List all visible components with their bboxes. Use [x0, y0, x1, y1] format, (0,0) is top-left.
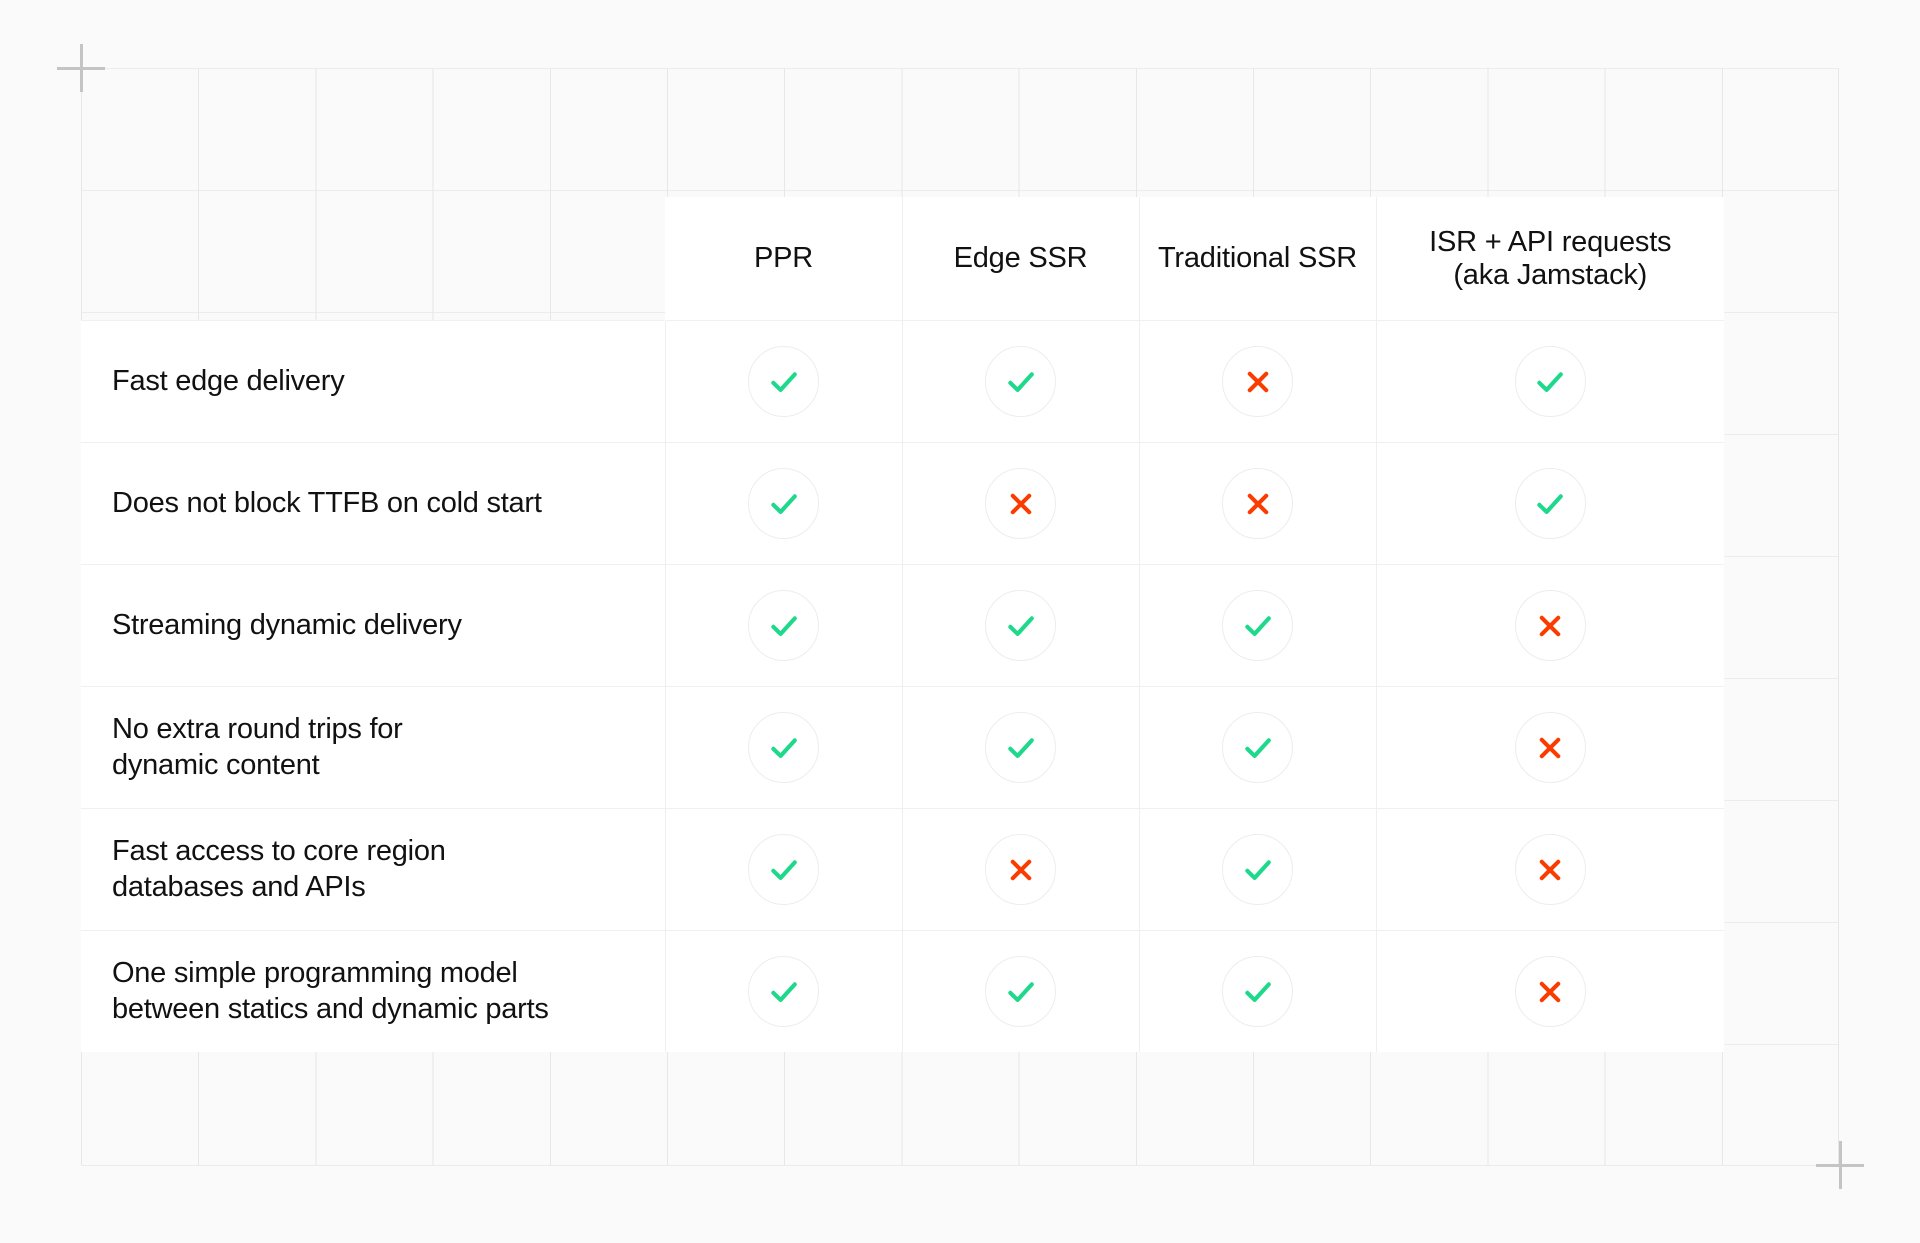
- support-cell: [665, 321, 902, 443]
- table-header: PPR Edge SSR Traditional SSR ISR + API r…: [81, 197, 1724, 321]
- row-label-cell: Fast access to core regiondatabases and …: [81, 809, 665, 931]
- support-cell: [665, 443, 902, 565]
- column-header-edge-ssr-line1: Edge SSR: [954, 242, 1088, 274]
- row-label-line1: Does not block TTFB on cold start: [112, 487, 542, 519]
- column-header-isr-api-requests-line1: ISR + API requests: [1429, 226, 1671, 258]
- row-label-line2: databases and APIs: [112, 871, 365, 903]
- support-cell: [665, 809, 902, 931]
- comparison-table-canvas: PPR Edge SSR Traditional SSR ISR + API r…: [0, 0, 1920, 1243]
- check-icon: [1515, 346, 1586, 417]
- background-grid-bottom-edge: [81, 1165, 1839, 1166]
- support-cell: [1139, 931, 1376, 1053]
- support-cell: [902, 565, 1139, 687]
- check-icon: [748, 834, 819, 905]
- support-cell: [1376, 443, 1724, 565]
- cross-icon: [1222, 346, 1293, 417]
- cross-icon: [1515, 712, 1586, 783]
- table-row: Fast access to core regiondatabases and …: [81, 809, 1724, 931]
- table-row: One simple programming modelbetween stat…: [81, 931, 1724, 1053]
- check-icon: [1515, 468, 1586, 539]
- support-cell: [665, 931, 902, 1053]
- column-header-traditional-ssr-line1: Traditional SSR: [1158, 242, 1357, 274]
- check-icon: [1222, 956, 1293, 1027]
- support-cell: [1376, 809, 1724, 931]
- row-label-line1: Fast access to core region: [112, 835, 446, 867]
- check-icon: [748, 468, 819, 539]
- table-row: Does not block TTFB on cold start: [81, 443, 1724, 565]
- check-icon: [1222, 834, 1293, 905]
- crosshair-marker-top-left-icon: [57, 44, 105, 92]
- table-row: Streaming dynamic delivery: [81, 565, 1724, 687]
- cross-icon: [985, 468, 1056, 539]
- check-icon: [748, 346, 819, 417]
- support-cell: [1376, 931, 1724, 1053]
- column-header-traditional-ssr: Traditional SSR: [1139, 197, 1376, 321]
- column-header-ppr: PPR: [665, 197, 902, 321]
- row-label-cell: Streaming dynamic delivery: [81, 565, 665, 687]
- check-icon: [985, 712, 1056, 783]
- table-row: Fast edge delivery: [81, 321, 1724, 443]
- support-cell: [665, 687, 902, 809]
- support-cell: [1139, 443, 1376, 565]
- check-icon: [748, 590, 819, 661]
- row-label-cell: Fast edge delivery: [81, 321, 665, 443]
- cross-icon: [1515, 834, 1586, 905]
- background-grid-right-edge: [1838, 68, 1839, 1166]
- column-header-isr-api-requests-line2: (aka Jamstack): [1377, 259, 1725, 292]
- cross-icon: [1222, 468, 1293, 539]
- support-cell: [902, 687, 1139, 809]
- row-label-line1: Fast edge delivery: [112, 365, 344, 397]
- cross-icon: [1515, 956, 1586, 1027]
- cross-icon: [1515, 590, 1586, 661]
- cross-icon: [985, 834, 1056, 905]
- support-cell: [1139, 565, 1376, 687]
- feature-comparison-table: PPR Edge SSR Traditional SSR ISR + API r…: [81, 197, 1724, 1052]
- check-icon: [748, 956, 819, 1027]
- check-icon: [985, 590, 1056, 661]
- table-header-row: PPR Edge SSR Traditional SSR ISR + API r…: [81, 197, 1724, 321]
- support-cell: [902, 931, 1139, 1053]
- support-cell: [1139, 809, 1376, 931]
- column-header-isr-api-requests: ISR + API requests (aka Jamstack): [1376, 197, 1724, 321]
- support-cell: [1139, 321, 1376, 443]
- support-cell: [665, 565, 902, 687]
- row-label-cell: One simple programming modelbetween stat…: [81, 931, 665, 1053]
- row-label-cell: No extra round trips fordynamic content: [81, 687, 665, 809]
- table-row: No extra round trips fordynamic content: [81, 687, 1724, 809]
- check-icon: [748, 712, 819, 783]
- column-header-ppr-line1: PPR: [754, 242, 813, 274]
- row-label-cell: Does not block TTFB on cold start: [81, 443, 665, 565]
- support-cell: [902, 443, 1139, 565]
- support-cell: [902, 809, 1139, 931]
- support-cell: [1376, 565, 1724, 687]
- support-cell: [1376, 321, 1724, 443]
- table-body: Fast edge deliveryDoes not block TTFB on…: [81, 321, 1724, 1053]
- column-header-label: [81, 197, 665, 321]
- row-label-line1: No extra round trips for: [112, 713, 403, 745]
- check-icon: [985, 956, 1056, 1027]
- support-cell: [1139, 687, 1376, 809]
- support-cell: [902, 321, 1139, 443]
- row-label-line2: between statics and dynamic parts: [112, 993, 549, 1025]
- row-label-line1: Streaming dynamic delivery: [112, 609, 462, 641]
- support-cell: [1376, 687, 1724, 809]
- column-header-edge-ssr: Edge SSR: [902, 197, 1139, 321]
- check-icon: [1222, 712, 1293, 783]
- comparison-table-wrapper: PPR Edge SSR Traditional SSR ISR + API r…: [81, 197, 1721, 1052]
- check-icon: [985, 346, 1056, 417]
- check-icon: [1222, 590, 1293, 661]
- row-label-line1: One simple programming model: [112, 957, 518, 989]
- row-label-line2: dynamic content: [112, 749, 319, 781]
